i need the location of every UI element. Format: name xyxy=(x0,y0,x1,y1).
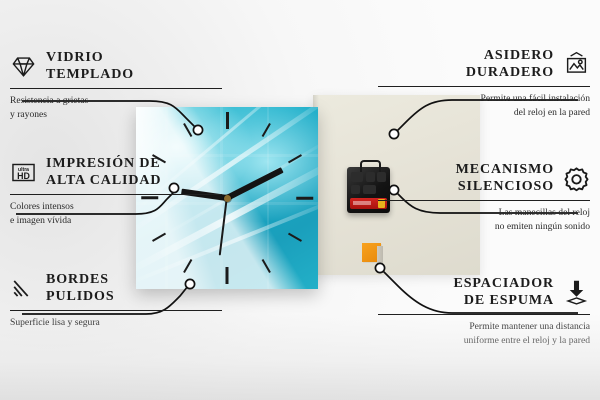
feature-title-line1: BORDES xyxy=(46,272,115,289)
feature-title-line2: ALTA CALIDAD xyxy=(46,173,161,190)
clock-tick-12 xyxy=(226,112,229,129)
feature-desc-line2: e imagen vívida xyxy=(10,214,222,227)
clock-tick-6 xyxy=(226,267,229,284)
feature-mecanismo-silencioso: MECANISMO SILENCIOSO Las manecillas del … xyxy=(378,162,590,233)
picture-hanger-icon xyxy=(563,51,590,78)
feature-title-line1: IMPRESIÓN DE xyxy=(46,156,161,173)
feature-title-line2: TEMPLADO xyxy=(46,67,134,84)
feature-desc-line2: y rayones xyxy=(10,108,222,121)
foam-spacer-sample xyxy=(362,243,381,262)
feature-divider xyxy=(378,200,590,201)
diamond-icon xyxy=(10,53,37,80)
polished-edges-icon xyxy=(10,275,37,302)
feature-title-line1: ASIDERO xyxy=(466,48,554,65)
feature-impresion-alta-calidad: ultra HD IMPRESIÓN DE ALTA CALIDAD Color… xyxy=(10,156,222,227)
clock-tick-4 xyxy=(288,233,302,242)
feature-desc-line1: Resistencia a grietas xyxy=(10,94,222,107)
feature-title-line1: ESPACIADOR xyxy=(453,276,554,293)
clock-tick-3 xyxy=(296,197,313,200)
feature-title-line2: DE ESPUMA xyxy=(453,293,554,310)
feature-asidero-duradero: ASIDERO DURADERO Permite una fácil insta… xyxy=(378,48,590,119)
feature-divider xyxy=(378,314,590,315)
feature-divider xyxy=(378,86,590,87)
feature-desc-line1: Colores intensos xyxy=(10,200,222,213)
gear-icon xyxy=(563,165,590,192)
feature-desc-line1: Superficie lisa y segura xyxy=(10,316,222,329)
feature-divider xyxy=(10,194,222,195)
feature-bordes-pulidos: BORDES PULIDOS Superficie lisa y segura xyxy=(10,272,222,330)
feature-title-line2: DURADERO xyxy=(466,65,554,82)
feature-vidrio-templado: VIDRIO TEMPLADO Resistencia a grietas y … xyxy=(10,50,222,121)
feature-title-line2: PULIDOS xyxy=(46,289,115,306)
feature-desc-line2: uniforme entre el reloj y la pared xyxy=(378,334,590,347)
feature-desc-line1: Las manecillas del reloj xyxy=(378,206,590,219)
feature-divider xyxy=(10,310,222,311)
foam-spacer-icon xyxy=(563,279,590,306)
feature-desc-line2: no emiten ningún sonido xyxy=(378,220,590,233)
ultra-hd-large-label: HD xyxy=(17,171,30,181)
feature-title-line1: MECANISMO xyxy=(456,162,554,179)
clock-tick-11 xyxy=(183,123,192,137)
feature-desc-line1: Permite una fácil instalación xyxy=(378,92,590,105)
clock-center-cap xyxy=(224,195,231,202)
feature-espaciador-de-espuma: ESPACIADOR DE ESPUMA Permite mantener un… xyxy=(378,276,590,347)
ultra-hd-icon: ultra HD xyxy=(10,159,37,186)
infographic-stage: VIDRIO TEMPLADO Resistencia a grietas y … xyxy=(0,0,600,400)
feature-desc-line2: del reloj en la pared xyxy=(378,106,590,119)
feature-title-line2: SILENCIOSO xyxy=(456,179,554,196)
feature-title-line1: VIDRIO xyxy=(46,50,134,67)
clock-tick-8 xyxy=(152,233,166,242)
feature-desc-line1: Permite mantener una distancia xyxy=(378,320,590,333)
feature-divider xyxy=(10,88,222,89)
